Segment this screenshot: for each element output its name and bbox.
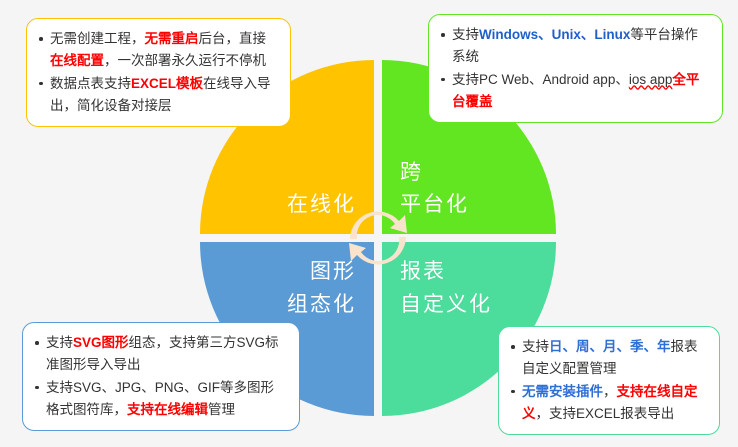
quadrant-graphics-label: 图形 组态化 [287,256,356,321]
list-item: 支持日、周、月、季、年报表自定义配置管理 [509,336,707,380]
list-item: 支持Windows、Unix、Linux等平台操作系统 [439,24,710,68]
list-item: 支持SVG、JPG、PNG、GIF等多图形格式图符库，支持在线编辑管理 [33,377,287,421]
list-item: 支持SVG图形组态，支持第三方SVG标准图形导入导出 [33,332,287,376]
callout-online-list: 无需创建工程，无需重启后台，直接在线配置，一次部署永久运行不停机 数据点表支持E… [37,28,278,116]
list-item: 支持PC Web、Android app、ios app全平台覆盖 [439,69,710,113]
spellcheck-underline: ios app [629,72,673,87]
list-item: 无需安装插件，支持在线自定义，支持EXCEL报表导出 [509,381,707,425]
quadrant-online-label: 在线化 [287,189,356,222]
callout-cross-platform: 支持Windows、Unix、Linux等平台操作系统 支持PC Web、And… [428,14,723,123]
callout-report-list: 支持日、周、月、季、年报表自定义配置管理 无需安装插件，支持在线自定义，支持EX… [509,336,707,424]
list-item: 无需创建工程，无需重启后台，直接在线配置，一次部署永久运行不停机 [37,28,278,72]
list-item: 数据点表支持EXCEL模板在线导入导出，简化设备对接层 [37,73,278,117]
callout-graphics: 支持SVG图形组态，支持第三方SVG标准图形导入导出 支持SVG、JPG、PNG… [22,322,300,431]
quadrant-cross-platform-label: 跨 平台化 [400,157,469,222]
infographic-canvas: 在线化 跨 平台化 图形 组态化 报表 自定义化 无需创建工程，无需重启后台，直… [0,0,738,447]
callout-cross-platform-list: 支持Windows、Unix、Linux等平台操作系统 支持PC Web、And… [439,24,710,112]
callout-report: 支持日、周、月、季、年报表自定义配置管理 无需安装插件，支持在线自定义，支持EX… [498,326,720,435]
callout-online: 无需创建工程，无需重启后台，直接在线配置，一次部署永久运行不停机 数据点表支持E… [26,18,291,127]
callout-graphics-list: 支持SVG图形组态，支持第三方SVG标准图形导入导出 支持SVG、JPG、PNG… [33,332,287,420]
quadrant-report-label: 报表 自定义化 [400,256,492,321]
